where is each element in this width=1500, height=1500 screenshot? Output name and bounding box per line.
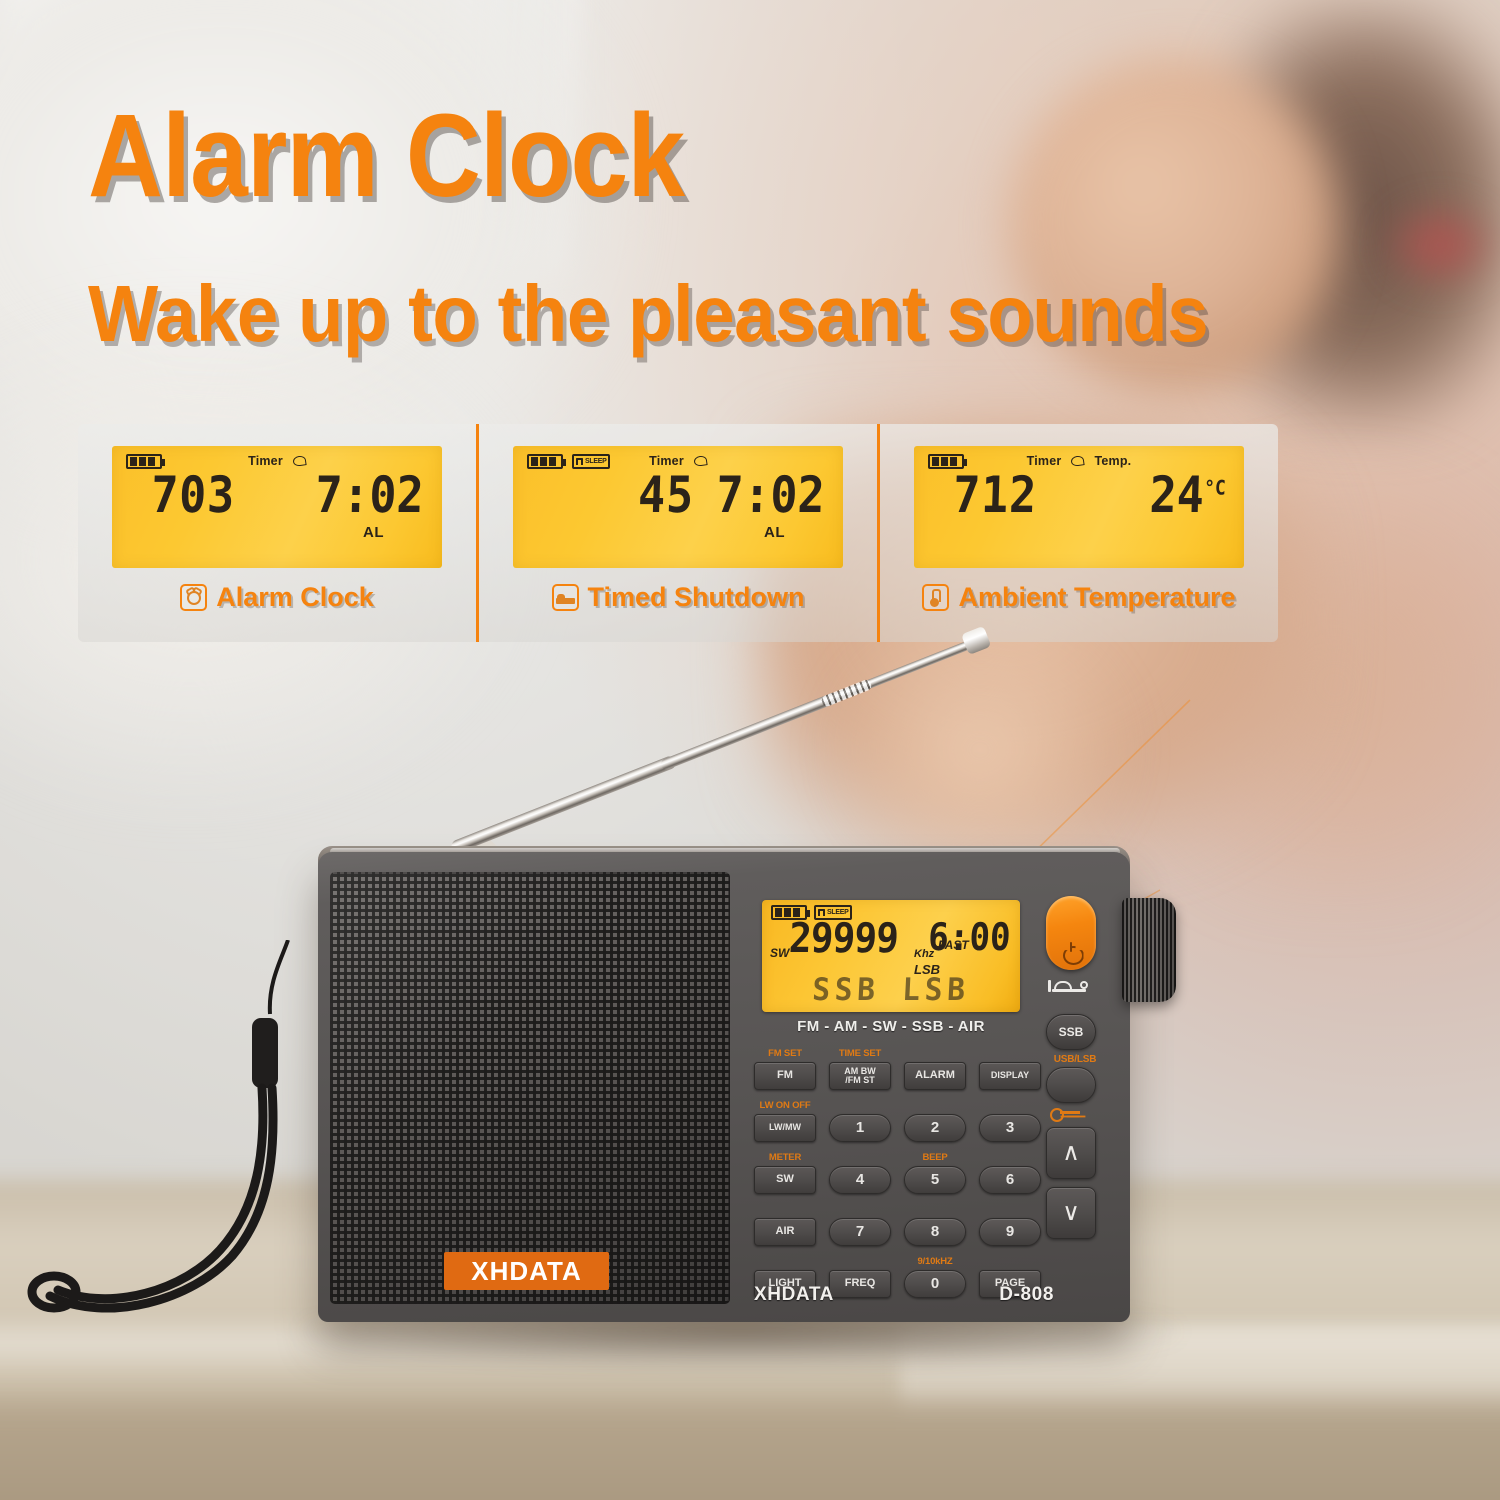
key-cell: TIME SETAM BW /FM ST	[829, 1062, 891, 1090]
usb-lsb-label: USB/LSB	[1046, 1054, 1104, 1065]
usb-lsb-button[interactable]	[1046, 1067, 1096, 1103]
brand-label: XHDATA	[754, 1284, 834, 1306]
key-2[interactable]: 2	[904, 1114, 966, 1142]
key-cell: ALARM	[904, 1062, 966, 1090]
speaker-grille	[330, 872, 730, 1304]
power-icon	[1063, 944, 1080, 961]
product-photo-radio: XHDATA SLEEP SW 29999 Khz FAST 6:00 LSB …	[0, 0, 1500, 1500]
band-strip-label: FM - AM - SW - SSB - AIR	[762, 1018, 1020, 1035]
key-cell: DISPLAY	[979, 1062, 1041, 1090]
strap-cinch-toggle	[252, 1018, 278, 1088]
keypad-row: LW ON OFFLW/MW 1 2 3	[754, 1096, 1044, 1142]
sleep-bed-icon	[1048, 975, 1092, 994]
key-cell: AIR	[754, 1218, 816, 1246]
key-shift-label: 9/10kHZ	[904, 1256, 966, 1267]
keypad-row: METERSW 4 BEEP5 6	[754, 1148, 1044, 1194]
radio-control-face: SLEEP SW 29999 Khz FAST 6:00 LSB SSB LSB…	[740, 872, 1130, 1322]
key-3[interactable]: 3	[979, 1114, 1041, 1142]
grille-brand-label: XHDATA	[471, 1256, 581, 1287]
key-7[interactable]: 7	[829, 1218, 891, 1246]
key-cell: FM SETFM	[754, 1062, 816, 1090]
lcd-mode-line: SSB LSB	[768, 972, 1015, 1008]
wrist-strap[interactable]	[20, 940, 350, 1340]
key-4[interactable]: 4	[829, 1166, 891, 1194]
key-5[interactable]: 5	[904, 1166, 966, 1194]
key-cell: LW ON OFFLW/MW	[754, 1114, 816, 1142]
key-cell: 4	[829, 1166, 891, 1194]
key-am-bw-fm-st[interactable]: AM BW /FM ST	[829, 1062, 891, 1090]
tuning-knob[interactable]	[1122, 898, 1176, 1002]
main-lcd-display: SLEEP SW 29999 Khz FAST 6:00 LSB SSB LSB	[762, 900, 1020, 1012]
key-shift-label: METER	[754, 1152, 816, 1163]
key-1[interactable]: 1	[829, 1114, 891, 1142]
lcd-frequency-value: 29999	[788, 918, 899, 959]
key-fm[interactable]: FM	[754, 1062, 816, 1090]
ssb-button[interactable]: SSB	[1046, 1014, 1096, 1050]
key-cell: 9	[979, 1218, 1041, 1246]
lcd-clock-value: 6:00	[928, 918, 1012, 956]
model-label: D-808	[999, 1284, 1054, 1306]
key-cell: 8	[904, 1218, 966, 1246]
key-sw[interactable]: SW	[754, 1166, 816, 1194]
key-shift-label: BEEP	[904, 1152, 966, 1163]
key-cell: METERSW	[754, 1166, 816, 1194]
key-6[interactable]: 6	[979, 1166, 1041, 1194]
key-cell: 2	[904, 1114, 966, 1142]
key-8[interactable]: 8	[904, 1218, 966, 1246]
keypad-row: AIR 7 8 9	[754, 1200, 1044, 1246]
key-air[interactable]: AIR	[754, 1218, 816, 1246]
key-cell: 6	[979, 1166, 1041, 1194]
grille-brand-logo: XHDATA	[444, 1252, 609, 1290]
key-lock-icon	[1050, 1107, 1090, 1119]
lcd-band-label: SW	[770, 946, 789, 960]
power-button[interactable]	[1046, 896, 1096, 970]
tune-up-button[interactable]: ∧	[1046, 1127, 1096, 1179]
key-shift-label: LW ON OFF	[754, 1100, 816, 1111]
key-cell: BEEP5	[904, 1166, 966, 1194]
key-9[interactable]: 9	[979, 1218, 1041, 1246]
key-shift-label: FM SET	[754, 1048, 816, 1059]
side-control-column: SSB USB/LSB ∧ ∨	[1046, 896, 1130, 1239]
key-cell: 1	[829, 1114, 891, 1142]
key-alarm[interactable]: ALARM	[904, 1062, 966, 1090]
key-lw-mw[interactable]: LW/MW	[754, 1114, 816, 1142]
key-cell: 3	[979, 1114, 1041, 1142]
key-shift-label: TIME SET	[829, 1048, 891, 1059]
key-display[interactable]: DISPLAY	[979, 1062, 1041, 1090]
tune-down-button[interactable]: ∨	[1046, 1187, 1096, 1239]
brand-model-row: XHDATA D-808	[754, 1284, 1054, 1306]
keypad-row: FM SETFM TIME SETAM BW /FM ST ALARM DISP…	[754, 1044, 1044, 1090]
key-cell: 7	[829, 1218, 891, 1246]
keypad: FM SETFM TIME SETAM BW /FM ST ALARM DISP…	[754, 1044, 1044, 1304]
